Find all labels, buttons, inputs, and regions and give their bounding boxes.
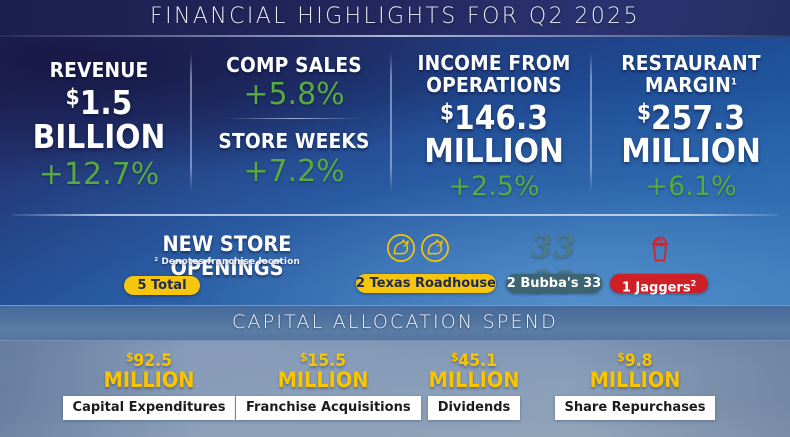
dividends-label: Dividends bbox=[428, 396, 521, 420]
metric-income-label-line2: OPERATIONS bbox=[403, 75, 585, 95]
franchise-acquisitions-label: Franchise Acquisitions bbox=[236, 396, 421, 420]
metric-margin-label-text: MARGIN bbox=[645, 73, 731, 97]
header-divider bbox=[0, 35, 790, 37]
share-repurchases-item: $9.8 MILLION Share Repurchases bbox=[548, 352, 722, 420]
jaggers-cup-logo-icon bbox=[643, 230, 677, 273]
section-divider bbox=[12, 214, 778, 216]
dividends-item: $45.1 MILLION Dividends bbox=[404, 352, 544, 420]
metric-inner-divider bbox=[226, 118, 362, 119]
metric-revenue: REVENUE $1.5 BILLION +12.7% bbox=[8, 44, 190, 204]
metric-revenue-label: REVENUE bbox=[14, 60, 183, 80]
jaggers-badge: 1 Jaggers2 bbox=[610, 274, 708, 293]
total-openings-badge: 5 Total bbox=[124, 276, 200, 295]
metric-comp-sales-store-weeks: COMP SALES +5.8% STORE WEEKS +7.2% bbox=[196, 44, 392, 204]
metric-income-change: +2.5% bbox=[396, 173, 592, 200]
metrics-row: REVENUE $1.5 BILLION +12.7% COMP SALES +… bbox=[0, 44, 790, 204]
metric-income-value-top: $146.3 bbox=[406, 102, 582, 133]
share-repurchases-label: Share Repurchases bbox=[555, 396, 716, 420]
dividends-value-bottom: MILLION bbox=[410, 370, 539, 391]
bubbas-33-badge: 2 Bubba's 33 bbox=[506, 274, 602, 293]
metric-revenue-value-top: $1.5 bbox=[17, 87, 181, 118]
capex-value-bottom: MILLION bbox=[69, 370, 229, 391]
infographic-page: FINANCIAL HIGHLIGHTS FOR Q2 2025 REVENUE… bbox=[0, 0, 790, 437]
page-title: FINANCIAL HIGHLIGHTS FOR Q2 2025 bbox=[0, 4, 790, 29]
share-repurchases-value-bottom: MILLION bbox=[555, 370, 715, 391]
metric-margin-value-top: $257.3 bbox=[606, 102, 777, 133]
metric-comp-sales-label: COMP SALES bbox=[203, 55, 385, 75]
metric-store-weeks-change: +7.2% bbox=[196, 157, 392, 187]
metric-revenue-change: +12.7% bbox=[8, 160, 190, 190]
capex-item: $92.5 MILLION Capital Expenditures bbox=[62, 352, 236, 420]
capital-allocation-section: $92.5 MILLION Capital Expenditures $15.5… bbox=[0, 352, 790, 437]
franchise-acquisitions-value-bottom: MILLION bbox=[243, 370, 403, 391]
jaggers-badge-text: 1 Jaggers bbox=[622, 280, 691, 295]
texas-roadhouse-logo-icon bbox=[386, 233, 416, 268]
metric-margin-footnote-marker: 1 bbox=[731, 78, 737, 88]
jaggers-footnote-marker: 2 bbox=[691, 279, 697, 288]
metric-comp-sales-change: +5.8% bbox=[196, 80, 392, 110]
capital-allocation-title: CAPITAL ALLOCATION SPEND bbox=[0, 311, 790, 333]
metric-margin-label-line2: MARGIN1 bbox=[603, 75, 780, 95]
texas-roadhouse-logo-icon-2 bbox=[420, 233, 450, 268]
capex-label: Capital Expenditures bbox=[63, 396, 236, 420]
texas-roadhouse-badge: 2 Texas Roadhouse bbox=[356, 274, 496, 293]
column-divider-1 bbox=[190, 52, 192, 192]
metric-margin-label-line1: RESTAURANT bbox=[603, 53, 780, 73]
metric-store-weeks-label: STORE WEEKS bbox=[203, 131, 385, 151]
franchise-footnote: ² Denotes franchise location bbox=[92, 257, 362, 267]
new-store-openings-title: NEW STORE OPENINGS bbox=[103, 232, 351, 280]
franchise-acquisitions-item: $15.5 MILLION Franchise Acquisitions bbox=[236, 352, 410, 420]
metric-income-from-operations: INCOME FROM OPERATIONS $146.3 MILLION +2… bbox=[396, 44, 592, 204]
metric-margin-change: +6.1% bbox=[596, 173, 786, 200]
metric-income-value-bottom: MILLION bbox=[406, 135, 582, 166]
metric-restaurant-margin: RESTAURANT MARGIN1 $257.3 MILLION +6.1% bbox=[596, 44, 786, 204]
metric-margin-value-bottom: MILLION bbox=[606, 135, 777, 166]
metric-revenue-value-bottom: BILLION bbox=[17, 121, 181, 152]
metric-income-label-line1: INCOME FROM bbox=[403, 53, 585, 73]
